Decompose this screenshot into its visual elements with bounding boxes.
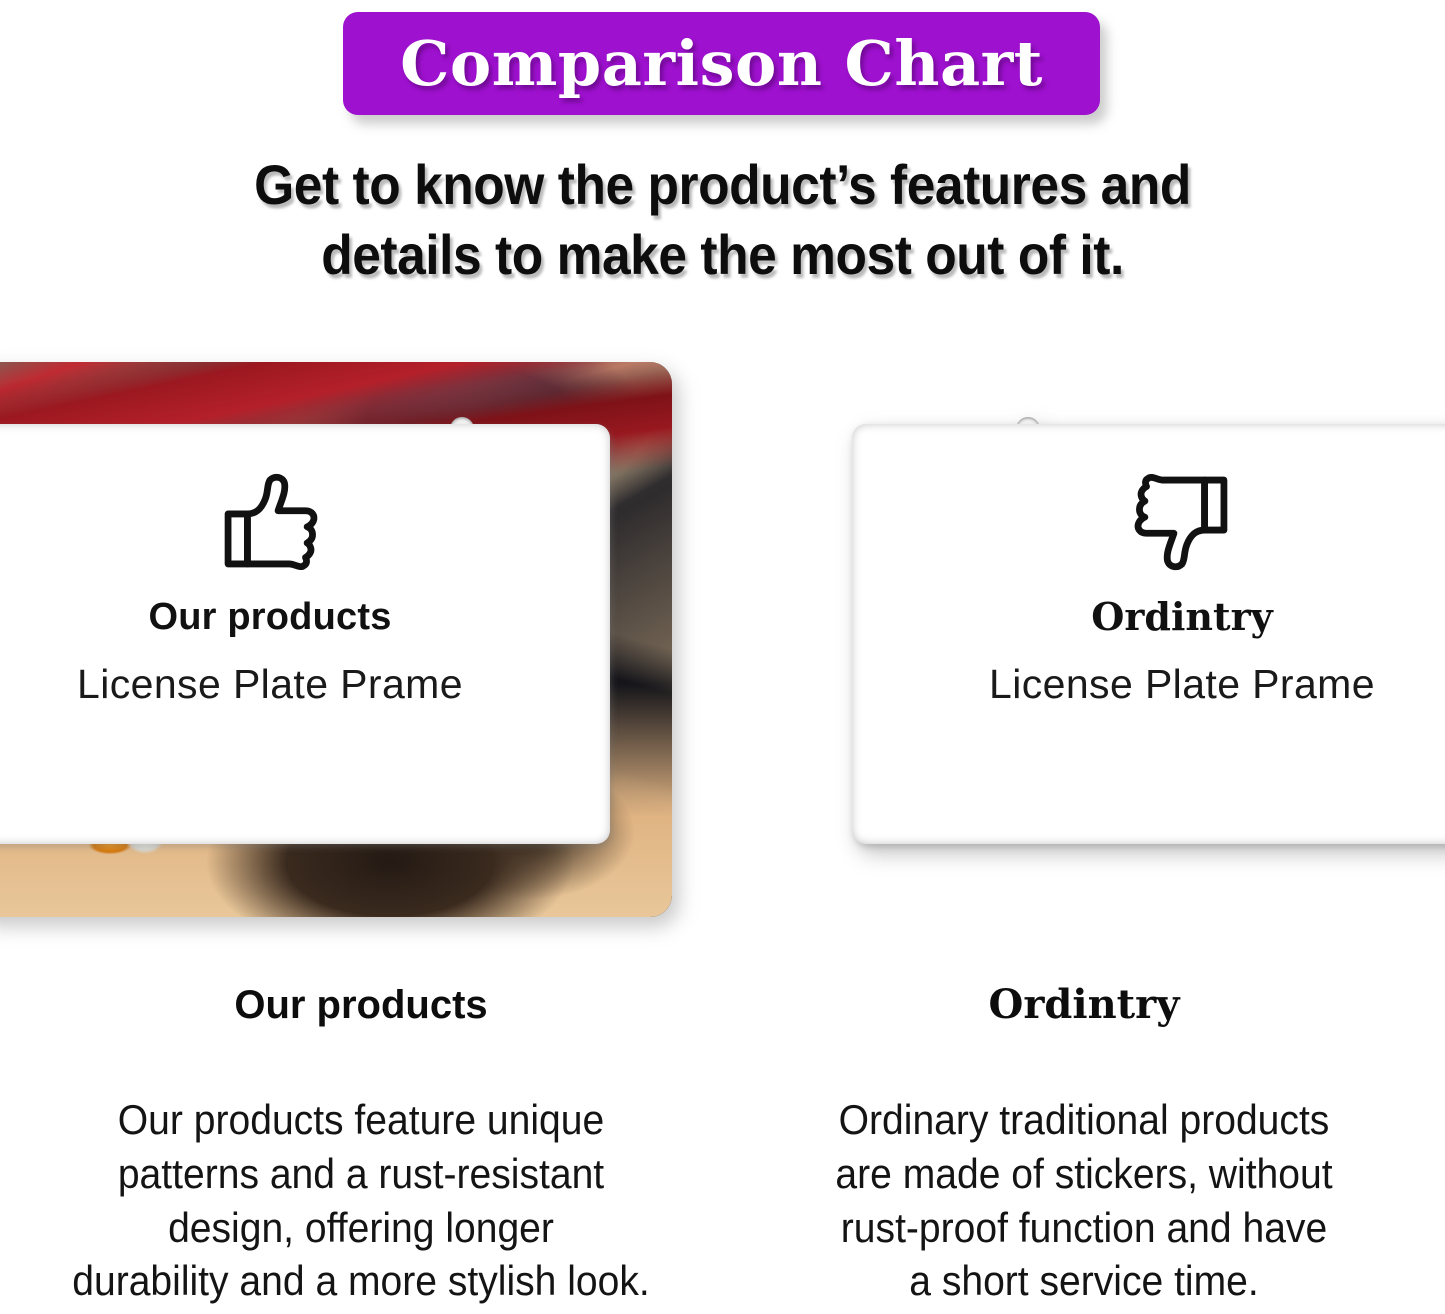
product-frame-ours: Our products License Plate Prame <box>0 362 672 917</box>
thumbs-up-icon <box>218 472 322 572</box>
title-banner-bg: Comparison Chart <box>343 12 1100 115</box>
column-ordinary: Ordintry Ordinary traditional products a… <box>723 985 1445 1308</box>
subtitle-line-2: details to make the most out of it. <box>58 220 1387 290</box>
frame-title-ordinary: Ordintry <box>1091 598 1272 636</box>
frames-row: Our products License Plate Prame Ordintr… <box>0 362 1445 922</box>
column-body-ordinary: Ordinary traditional products are made o… <box>748 1093 1419 1308</box>
thumbs-down-icon <box>1130 472 1234 572</box>
column-ours-line-2: patterns and a rust-resistant <box>25 1147 696 1201</box>
column-ordinary-line-2: are made of stickers, without <box>748 1147 1419 1201</box>
column-ordinary-line-4: a short service time. <box>748 1254 1419 1308</box>
title-banner: Comparison Chart <box>343 12 1100 115</box>
column-ours-line-1: Our products feature unique <box>25 1093 696 1147</box>
column-ours: Our products Our products feature unique… <box>0 985 722 1308</box>
comparison-columns: Our products Our products feature unique… <box>0 985 1445 1314</box>
subtitle: Get to know the product’s features and d… <box>58 150 1387 290</box>
subtitle-line-1: Get to know the product’s features and <box>58 150 1387 220</box>
column-ordinary-line-3: rust-proof function and have <box>748 1201 1419 1255</box>
column-ordinary-line-1: Ordinary traditional products <box>748 1093 1419 1147</box>
license-plate-window-ordinary: Ordintry License Plate Prame <box>852 424 1445 844</box>
column-heading-ordinary: Ordintry <box>723 985 1445 1025</box>
frame-subtitle-ours: License Plate Prame <box>77 664 463 705</box>
column-ours-line-4: durability and a more stylish look. <box>25 1254 696 1308</box>
product-frame-ordinary: Ordintry License Plate Prame <box>800 362 1445 917</box>
column-ours-line-3: design, offering longer <box>25 1201 696 1255</box>
license-plate-window-ours: Our products License Plate Prame <box>0 424 610 844</box>
frame-subtitle-ordinary: License Plate Prame <box>989 664 1375 705</box>
column-heading-ours: Our products <box>0 985 722 1025</box>
frame-title-ours: Our products <box>148 598 391 636</box>
column-body-ours: Our products feature unique patterns and… <box>25 1093 696 1308</box>
page-title: Comparison Chart <box>400 33 1043 95</box>
